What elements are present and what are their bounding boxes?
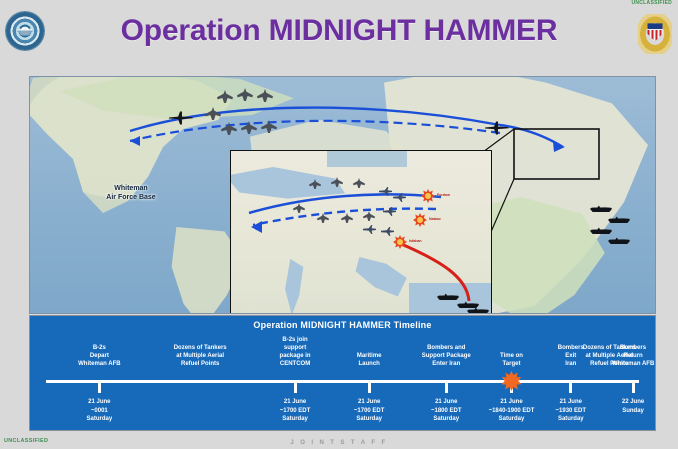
timeline-axis [46, 380, 639, 383]
target-label-isfahan: Isfahan [409, 239, 422, 243]
timeline-tick [294, 380, 297, 393]
timeline-tick [98, 380, 101, 393]
inset-route-overlay [231, 151, 491, 314]
middle-east-inset-map: Fordow Natanz Isfahan [230, 150, 492, 314]
whiteman-afb-label: WhitemanAir Force Base [86, 185, 176, 203]
inset-outbound-route [249, 194, 441, 213]
naval-vessel-icon [608, 237, 630, 244]
inset-return-arrowhead [251, 221, 262, 233]
timeline-tick [368, 380, 371, 393]
timeline-tick [569, 380, 572, 393]
maritime-launch-route [399, 243, 469, 301]
timeline-event-label: Dozens of Tankersat Multiple AerialRefue… [154, 344, 246, 368]
classification-marking-top: UNCLASSIFIED [631, 0, 672, 6]
b2-bomber-icon [241, 121, 257, 134]
timeline-title: Operation MIDNIGHT HAMMER Timeline [30, 320, 655, 330]
footer-organization: J O I N T S T A F F [0, 440, 678, 446]
target-label-natanz: Natanz [429, 217, 441, 221]
slide: UNCLASSIFIED Operation MIDNIGHT HAMMER W… [0, 0, 678, 449]
timeline-event-datetime: 21 June~0001Saturday [53, 398, 145, 424]
b2-bomber-icon [221, 122, 237, 135]
timeline-panel: Operation MIDNIGHT HAMMER Timeline B-2sD… [29, 315, 656, 431]
timeline-event-label: B-2sDepartWhiteman AFB [53, 344, 145, 368]
page-title: Operation MIDNIGHT HAMMER [0, 14, 678, 48]
operation-map: WhitemanAir Force Base NORTHATLANTICOCEA… [29, 76, 656, 314]
timeline-tick [445, 380, 448, 393]
timeline-tick [632, 380, 635, 393]
target-label-fordow: Fordow [437, 193, 450, 197]
timeline-event-datetime: 22 JuneSunday [587, 398, 678, 415]
timeline-event-label: BombersReturnWhiteman AFB [587, 344, 678, 368]
